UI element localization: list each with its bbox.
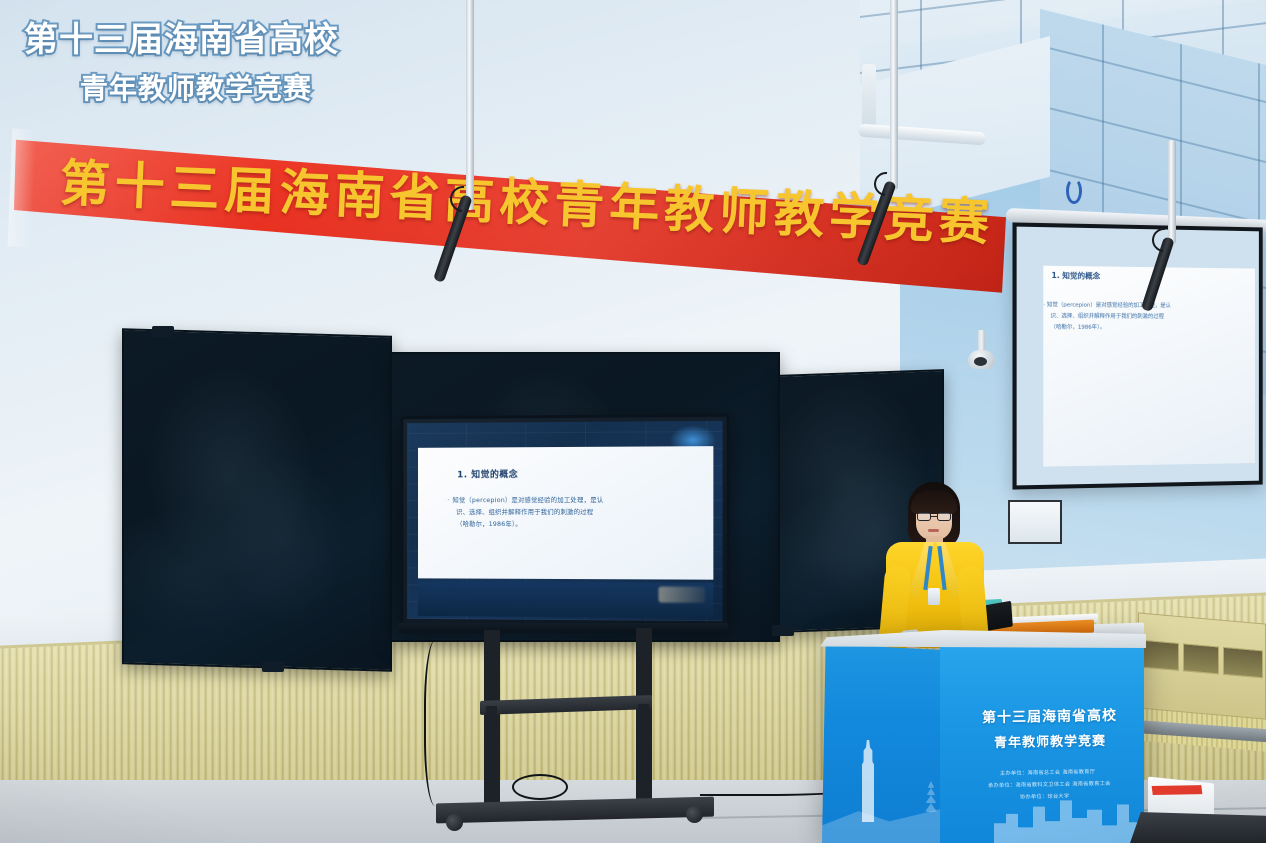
camera-mount (978, 330, 985, 352)
cart-leg-a (486, 706, 497, 802)
slide-body-line-3: （哈勒尔，1986年）。 (456, 520, 522, 528)
bullet-marker: · (1043, 302, 1045, 308)
bullet-marker: · (447, 496, 449, 504)
overlay-title-line-1: 第十三届海南省高校 (24, 12, 339, 61)
female-presenter (878, 482, 990, 648)
wooden-cubby-shelf (1138, 612, 1266, 719)
event-podium: 第十三届海南省高校 青年教师教学竞赛 主办单位：海南省总工会 海南省教育厅 承办… (822, 636, 1144, 843)
display-lower-reflection (418, 581, 713, 618)
slide-body-line-1: 知觉（percepion）是对感觉经验的加工处理，是认 (452, 496, 603, 504)
projected-line-3: （哈勒尔，1986年）。 (1050, 324, 1105, 330)
blackboard-clip (262, 661, 284, 672)
shelf-cubby (1223, 647, 1263, 678)
podium-organizer-line-3: 协办单位：琼台大学 (1020, 793, 1070, 801)
ceiling-dome-camera (968, 350, 995, 369)
power-cable-vertical (424, 640, 452, 806)
interactive-flat-panel[interactable]: 1. 知觉的概念 ·知觉（percepion）是对感觉经验的加工处理，是认 识、… (400, 414, 729, 629)
red-tape-strip (1152, 785, 1203, 795)
slide-body: ·知觉（percepion）是对感觉经验的加工处理，是认 识、选择、组织并解释作… (447, 495, 685, 531)
slide-body-line-2: 识、选择、组织并解释作用于我们的刺激的过程 (456, 508, 593, 516)
lanyard-badge (928, 588, 940, 605)
glasses-icon (917, 512, 951, 521)
microphone-pole-center (466, 0, 474, 210)
clock-tower-icon (858, 740, 878, 822)
projected-line-2: 识、选择、组织并解释作用于我们的刺激的过程 (1050, 313, 1164, 320)
floor-platform (1130, 812, 1266, 843)
pull-down-projection-screen: 1. 知觉的概念 · 知觉（percepion）是对感觉经验的加工处理，是认 识… (1012, 222, 1262, 489)
blackboard-left-panel (122, 328, 392, 672)
podium-left-face (822, 644, 942, 843)
ceiling-hook-blue (1066, 178, 1082, 204)
podium-title-line-1: 第十三届海南省高校 (982, 705, 1117, 727)
display-wallpaper: 1. 知觉的概念 ·知觉（percepion）是对感觉经验的加工处理，是认 识、… (407, 421, 722, 621)
cart-leg-b (638, 704, 649, 802)
glasses-lens-right (937, 512, 951, 521)
shelf-cubby (1183, 643, 1219, 674)
reflection-highlight (658, 586, 705, 602)
power-cable-loop (512, 774, 568, 800)
overlay-title-block: 第十三届海南省高校 青年教师教学竞赛 (24, 12, 339, 107)
presenter-hair-front (911, 490, 957, 514)
photo-scene: 第十三届海南省高校青年教师教学竞赛 1. 知觉的概念 ·知觉（percepion… (0, 0, 1266, 843)
blackboard-clip (772, 625, 794, 636)
shelf-cubby (1143, 640, 1179, 671)
small-whiteboard (1008, 500, 1062, 544)
blackboard-clip (152, 326, 174, 337)
cart-caster-right (686, 806, 703, 823)
projected-slide-title: 1. 知觉的概念 (1051, 270, 1100, 282)
overlay-title-line-2: 青年教师教学竞赛 (80, 67, 339, 107)
slide-title: 1. 知觉的概念 (457, 467, 518, 480)
display-bottom-bezel (398, 623, 728, 633)
microphone-pole-right (890, 0, 898, 190)
presenter-mouth (928, 529, 939, 532)
podium-title-line-2: 青年教师教学竞赛 (994, 730, 1106, 751)
podium-hill-graphic (822, 794, 944, 843)
glasses-lens-left (917, 512, 931, 521)
slide-content-area: 1. 知觉的概念 ·知觉（percepion）是对感觉经验的加工处理，是认 识、… (418, 446, 713, 580)
cart-caster-left (446, 814, 463, 831)
banner-fold-highlight (8, 129, 37, 248)
